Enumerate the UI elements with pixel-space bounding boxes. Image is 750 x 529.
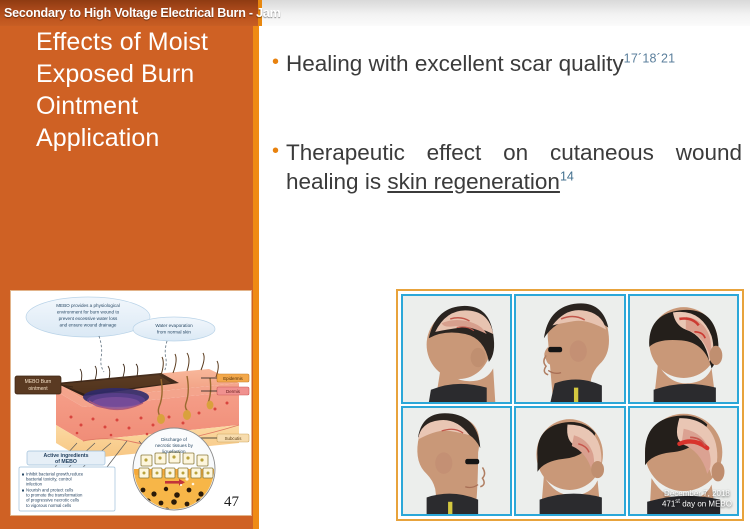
window-title-text: Secondary to High Voltage Electrical Bur… bbox=[4, 0, 281, 26]
photo-cell-3 bbox=[628, 294, 739, 404]
photo-cell-4 bbox=[401, 406, 512, 516]
svg-text:of MEBO: of MEBO bbox=[55, 459, 77, 465]
svg-text:necrotic tissues by: necrotic tissues by bbox=[155, 443, 193, 448]
slide-page-number: 47 bbox=[224, 494, 239, 511]
slide-body-content: Healing with excellent scar quality17´18… bbox=[272, 50, 742, 196]
svg-text:Subcutis: Subcutis bbox=[225, 436, 243, 441]
bullet-1-text: Healing with excellent scar quality bbox=[286, 51, 624, 76]
svg-text:Epidermis: Epidermis bbox=[223, 376, 243, 381]
svg-text:Discharge of: Discharge of bbox=[161, 437, 188, 442]
bullet-2-reference: 14 bbox=[560, 169, 574, 183]
bullet-item-1: Healing with excellent scar quality17´18… bbox=[272, 50, 742, 79]
svg-text:environment for burn wound to: environment for burn wound to bbox=[57, 310, 120, 315]
slide-heading: Effects of Moist Exposed Burn Ointment A… bbox=[36, 26, 251, 154]
svg-text:MEBO provides a physiological: MEBO provides a physiological bbox=[56, 303, 120, 308]
patient-head-left-profile-view-icon bbox=[403, 408, 510, 514]
photo-cell-2 bbox=[514, 294, 625, 404]
svg-text:liquefaction: liquefaction bbox=[162, 449, 186, 454]
photo-cell-1 bbox=[401, 294, 512, 404]
patient-head-right-profile-view-icon bbox=[516, 296, 623, 402]
patient-head-right-rear-view-icon bbox=[403, 296, 510, 402]
svg-text:infection: infection bbox=[26, 482, 43, 487]
bullet-2-emphasis: skin regeneration bbox=[387, 169, 560, 194]
window-title-bar: Secondary to High Voltage Electrical Bur… bbox=[0, 0, 750, 26]
svg-text:and ensure wound drainage: and ensure wound drainage bbox=[60, 323, 117, 328]
bullet-1-reference: 17´18´21 bbox=[624, 52, 676, 66]
svg-text:Dermis: Dermis bbox=[226, 389, 241, 394]
patient-head-left-rear-closeup-view-icon bbox=[630, 408, 737, 514]
svg-text:MEBO Burn: MEBO Burn bbox=[25, 379, 52, 385]
patient-head-rear-view-icon bbox=[630, 296, 737, 402]
bullet-item-2: Therapeutic effect on cutaneous wound he… bbox=[272, 139, 742, 197]
svg-text:from normal skin: from normal skin bbox=[157, 330, 191, 335]
photo-grid: December 7, 2018 471st day on MEBO bbox=[401, 294, 739, 516]
slide-vertical-accent-stripe bbox=[253, 26, 259, 529]
svg-text:ointment: ointment bbox=[28, 386, 48, 392]
svg-text:Water evaporation: Water evaporation bbox=[155, 323, 193, 328]
photo-cell-6: December 7, 2018 471st day on MEBO bbox=[628, 406, 739, 516]
presentation-slide-viewer: Secondary to High Voltage Electrical Bur… bbox=[0, 0, 750, 529]
svg-text:prevent excessive water loss: prevent excessive water loss bbox=[59, 316, 118, 321]
clinical-photo-grid-figure: December 7, 2018 471st day on MEBO bbox=[396, 289, 744, 521]
patient-head-left-rear-view-icon bbox=[516, 408, 623, 514]
photo-cell-5 bbox=[514, 406, 625, 516]
svg-text:to vigorous normal cells: to vigorous normal cells bbox=[26, 503, 71, 508]
mebo-mechanism-figure: MEBO provides a physiological environmen… bbox=[10, 290, 252, 516]
mebo-mechanism-diagram-icon: MEBO provides a physiological environmen… bbox=[11, 291, 251, 515]
